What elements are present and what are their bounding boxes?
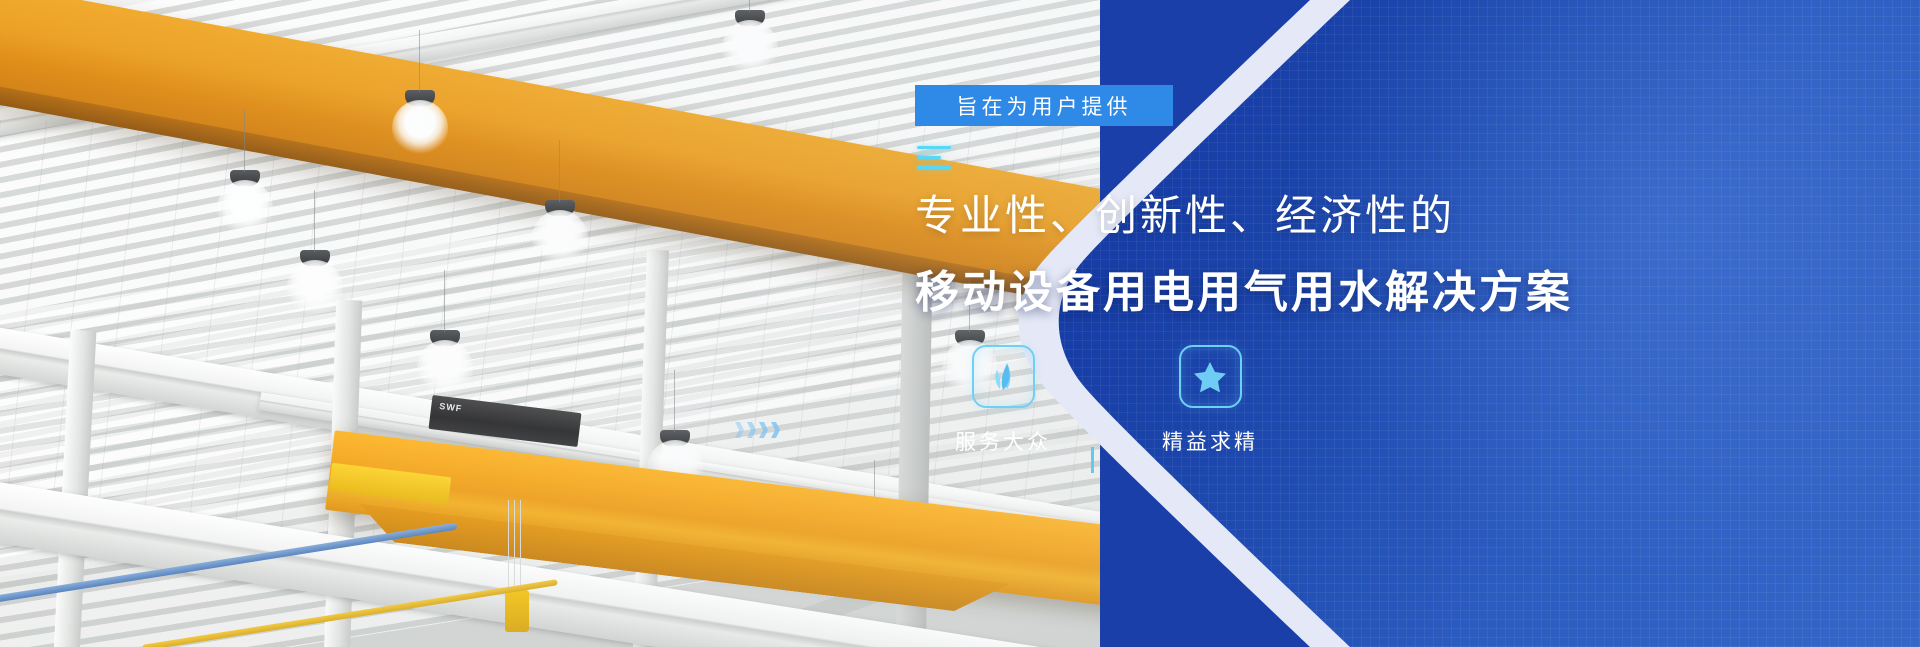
star-icon-frame — [1179, 345, 1242, 408]
banner-content: 旨在为用户提供 专业性、创新性、经济性的 移动设备用电用气用水解决方案 服务大众 — [915, 0, 1920, 647]
chevron-arrows-icon — [735, 422, 780, 438]
hero-banner: SWF 旨在为用户提供 专业性、创新性、经济性的 移动设备用电用气用水解决方案 — [0, 0, 1920, 647]
leaf-icon-frame — [972, 345, 1035, 408]
crane-brand-mark: SWF — [439, 402, 463, 414]
feature-label: 精益求精 — [1162, 426, 1258, 456]
ceiling-lamp — [230, 170, 260, 236]
feature-label: 服务大众 — [955, 426, 1051, 456]
decorative-lines — [917, 146, 951, 169]
headline-line-2: 移动设备用电用气用水解决方案 — [915, 256, 1573, 320]
ceiling-lamp — [430, 330, 460, 396]
tagline-badge: 旨在为用户提供 — [915, 85, 1173, 126]
ceiling-lamp — [300, 250, 330, 316]
feature-item-service: 服务大众 — [915, 345, 1091, 456]
crane-ropes — [508, 500, 526, 595]
leaf-icon — [985, 359, 1021, 395]
ceiling-lamp — [545, 200, 575, 266]
ceiling-lamp — [405, 90, 435, 156]
headline-line-1: 专业性、创新性、经济性的 — [915, 182, 1455, 243]
feature-item-excellence: 精益求精 — [1122, 345, 1298, 456]
feature-divider — [1091, 447, 1094, 473]
crane-hook-block — [505, 590, 529, 632]
star-icon — [1192, 359, 1228, 395]
feature-list: 服务大众 精益求精 — [915, 345, 1298, 473]
